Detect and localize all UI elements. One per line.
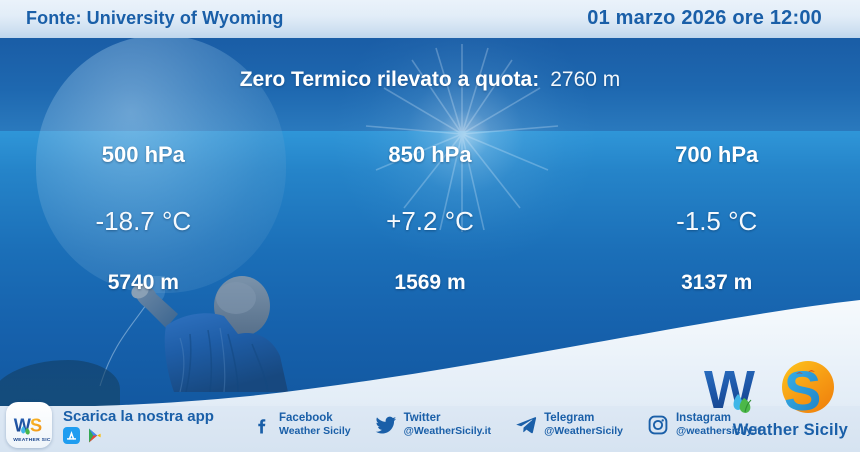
social-link-telegram[interactable]: Telegram @WeatherSicily — [515, 412, 623, 437]
facebook-icon — [250, 414, 272, 436]
social-links: Facebook Weather Sicily Twitter @Weather… — [250, 412, 761, 437]
level-column-700: 700 hPa -1.5 °C 3137 m — [573, 136, 860, 296]
social-name: Twitter — [404, 412, 491, 425]
social-name: Telegram — [544, 412, 623, 425]
svg-text:S: S — [784, 360, 821, 422]
zero-thermal-value: 2760 m — [550, 68, 620, 91]
social-link-facebook[interactable]: Facebook Weather Sicily — [250, 412, 351, 437]
height-value: 5740 m — [0, 234, 287, 293]
level-column-500: 500 hPa -18.7 °C 5740 m — [0, 136, 287, 296]
social-name: Facebook — [279, 412, 351, 425]
temperature-value: +7.2 °C — [287, 166, 574, 234]
social-handle: @WeatherSicily — [544, 425, 623, 437]
social-handle: Weather Sicily — [279, 425, 351, 437]
temperature-value: -1.5 °C — [573, 166, 860, 234]
brand-name: Weather Sicily — [733, 421, 848, 440]
weather-card: Fonte: University of Wyoming 01 marzo 20… — [0, 0, 860, 452]
twitter-icon — [375, 414, 397, 436]
telegram-icon — [515, 414, 537, 436]
level-column-850: 850 hPa +7.2 °C 1569 m — [287, 136, 574, 296]
instagram-icon — [647, 414, 669, 436]
pressure-label: 500 hPa — [0, 136, 287, 166]
app-logo[interactable]: W S WEATHER SICILY — [6, 402, 52, 448]
svg-text:WEATHER SICILY: WEATHER SICILY — [13, 437, 51, 443]
store-badges — [63, 427, 103, 444]
height-value: 1569 m — [287, 234, 574, 293]
social-text: Twitter @WeatherSicily.it — [404, 412, 491, 437]
download-app-label: Scarica la nostra app — [63, 408, 214, 425]
ws-app-icon: W S WEATHER SICILY — [7, 403, 51, 447]
temperature-value: -18.7 °C — [0, 166, 287, 234]
social-text: Telegram @WeatherSicily — [544, 412, 623, 437]
google-play-icon[interactable] — [86, 427, 103, 444]
source-label: Fonte: University of Wyoming — [26, 8, 283, 29]
header-bar: Fonte: University of Wyoming 01 marzo 20… — [0, 0, 860, 38]
zero-thermal-row: Zero Termico rilevato a quota:2760 m — [0, 68, 860, 92]
app-store-icon[interactable] — [63, 427, 80, 444]
pressure-levels: 500 hPa -18.7 °C 5740 m 850 hPa +7.2 °C … — [0, 136, 860, 296]
social-text: Facebook Weather Sicily — [279, 412, 351, 437]
social-handle: @WeatherSicily.it — [404, 425, 491, 437]
pressure-label: 850 hPa — [287, 136, 574, 166]
datetime-label: 01 marzo 2026 ore 12:00 — [587, 7, 822, 30]
svg-text:S: S — [30, 416, 42, 436]
pressure-label: 700 hPa — [573, 136, 860, 166]
zero-thermal-label: Zero Termico rilevato a quota: — [240, 68, 540, 91]
height-value: 3137 m — [573, 234, 860, 293]
social-link-twitter[interactable]: Twitter @WeatherSicily.it — [375, 412, 491, 437]
